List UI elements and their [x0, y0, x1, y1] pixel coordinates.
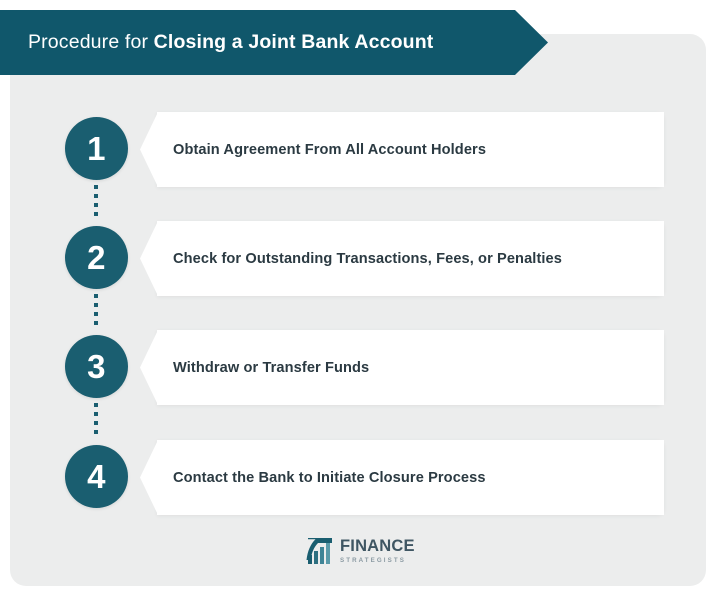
step-item: Check for Outstanding Transactions, Fees… — [0, 220, 720, 296]
bar-chart-arrow-icon — [305, 537, 335, 565]
step-connector-dotted-line — [94, 185, 98, 219]
step-label: Obtain Agreement From All Account Holder… — [173, 111, 486, 188]
step-number: 3 — [87, 350, 106, 383]
step-label: Check for Outstanding Transactions, Fees… — [173, 220, 562, 297]
brand-subtitle: STRATEGISTS — [340, 558, 415, 564]
step-number: 4 — [87, 460, 106, 493]
step-connector-dotted-line — [94, 294, 98, 328]
brand-name: FINANCE — [340, 538, 415, 555]
step-connector-dotted-line — [94, 403, 98, 437]
infographic-root: Procedure for Closing a Joint Bank Accou… — [0, 0, 720, 601]
step-number: 2 — [87, 241, 106, 274]
step-label: Withdraw or Transfer Funds — [173, 329, 369, 406]
step-item: Withdraw or Transfer Funds 3 — [0, 329, 720, 405]
step-item: Obtain Agreement From All Account Holder… — [0, 111, 720, 187]
step-number: 1 — [87, 132, 106, 165]
steps-list: Obtain Agreement From All Account Holder… — [0, 0, 720, 601]
step-number-bubble: 4 — [65, 445, 128, 508]
step-number-bubble: 1 — [65, 117, 128, 180]
step-label: Contact the Bank to Initiate Closure Pro… — [173, 439, 486, 516]
step-number-bubble: 2 — [65, 226, 128, 289]
brand-logo: FINANCE STRATEGISTS — [305, 535, 433, 567]
step-item: Contact the Bank to Initiate Closure Pro… — [0, 439, 720, 515]
step-number-bubble: 3 — [65, 335, 128, 398]
brand-logo-text: FINANCE STRATEGISTS — [340, 538, 415, 564]
